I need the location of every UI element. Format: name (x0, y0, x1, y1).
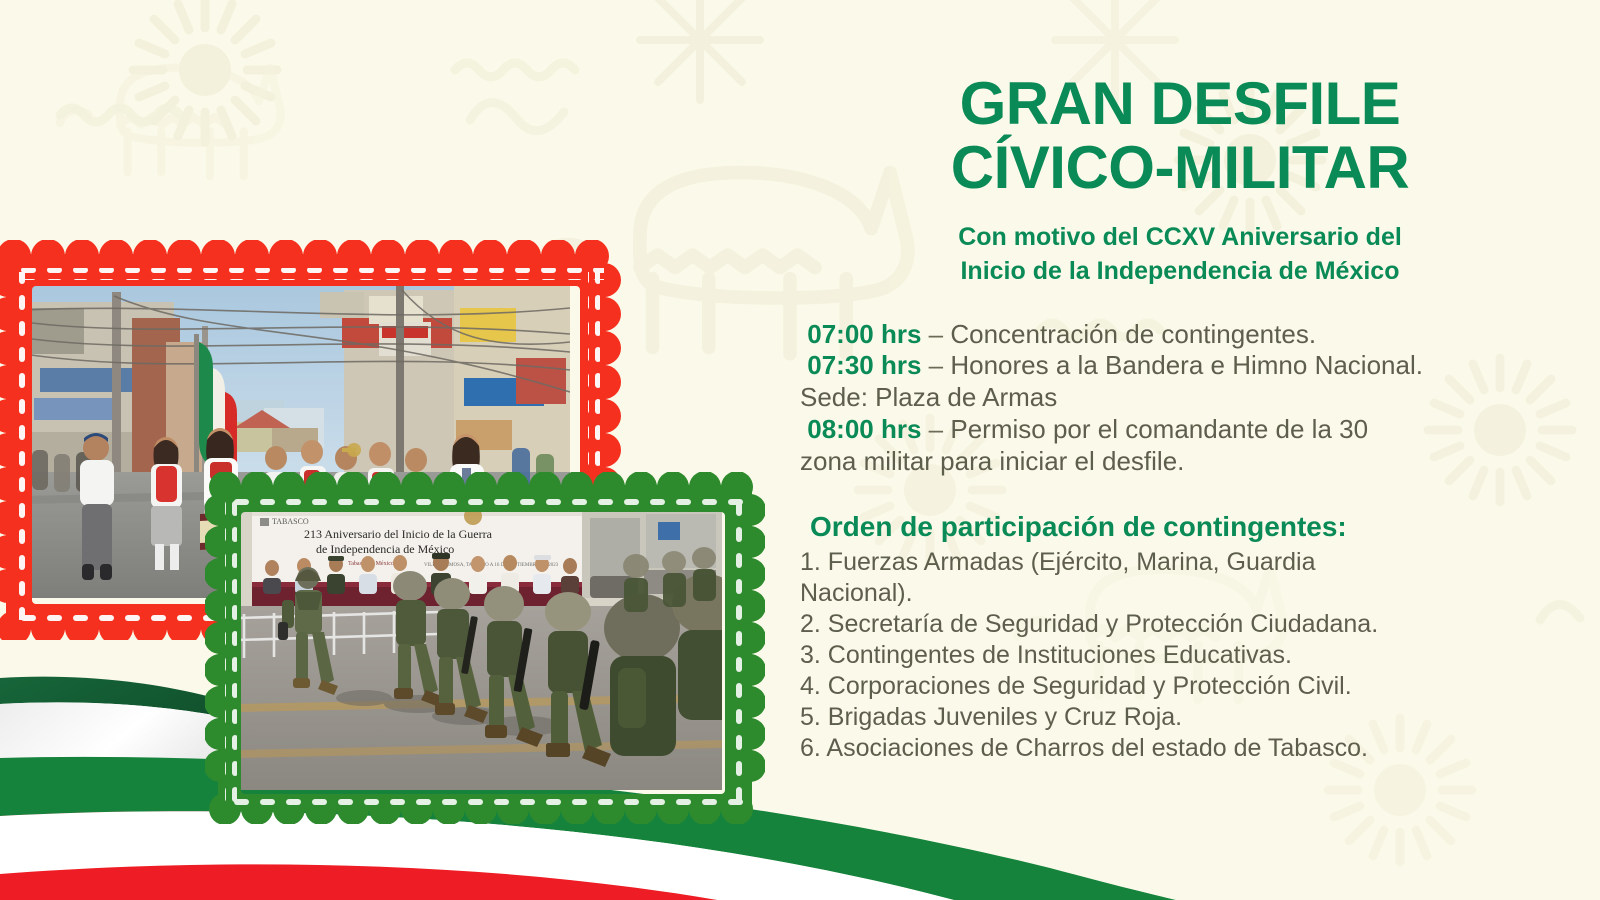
schedule-item: 08:00 hrs – Permiso por el comandante de… (800, 414, 1560, 446)
orden-list: 1. Fuerzas Armadas (Ejército, Marina, Gu… (800, 547, 1560, 764)
subtitle-block: Con motivo del CCXV Aniversario del Inic… (800, 221, 1560, 289)
schedule-item: 07:00 hrs – Concentración de contingente… (800, 319, 1560, 351)
subtitle-line-2: Inicio de la Independencia de México (800, 255, 1560, 289)
list-item: 5. Brigadas Juveniles y Cruz Roja. (800, 702, 1560, 733)
schedule-dash: – (929, 414, 943, 444)
schedule-text: Honores a la Bandera e Himno Nacional. (950, 350, 1423, 380)
subtitle-line-1: Con motivo del CCXV Aniversario del (800, 221, 1560, 255)
schedule-time: 07:30 hrs (807, 350, 921, 380)
schedule-text: Permiso por el comandante de la 30 (950, 414, 1368, 444)
schedule-time: 08:00 hrs (807, 414, 921, 444)
schedule-dash: – (929, 350, 943, 380)
schedule-text: Concentración de contingentes. (950, 319, 1316, 349)
list-item: 2. Secretaría de Seguridad y Protección … (800, 609, 1560, 640)
list-item: 6. Asociaciones de Charros del estado de… (800, 733, 1560, 764)
title-block: GRAN DESFILE CÍVICO-MILITAR (800, 0, 1560, 199)
schedule-item-continuation: zona militar para iniciar el desfile. (800, 446, 1560, 478)
schedule-venue: Sede: Plaza de Armas (800, 382, 1560, 414)
photo-frame-green (205, 472, 765, 824)
list-item: 4. Corporaciones de Seguridad y Protecci… (800, 671, 1560, 702)
schedule-item: 07:30 hrs – Honores a la Bandera e Himno… (800, 350, 1560, 382)
list-item: 3. Contingentes de Instituciones Educati… (800, 640, 1560, 671)
content-column: GRAN DESFILE CÍVICO-MILITAR Con motivo d… (800, 0, 1560, 900)
orden-heading: Orden de participación de contingentes: (800, 511, 1560, 543)
schedule-time: 07:00 hrs (807, 319, 921, 349)
poster-canvas: TABASCO 213 Aniversario del Inicio de la… (0, 0, 1600, 900)
title-line-1: GRAN DESFILE (800, 72, 1560, 136)
title-line-2: CÍVICO-MILITAR (800, 136, 1560, 200)
list-item: 1. Fuerzas Armadas (Ejército, Marina, Gu… (800, 547, 1560, 578)
schedule-dash: – (929, 319, 943, 349)
schedule-list: 07:00 hrs – Concentración de contingente… (800, 319, 1560, 478)
list-item: Nacional). (800, 578, 1560, 609)
